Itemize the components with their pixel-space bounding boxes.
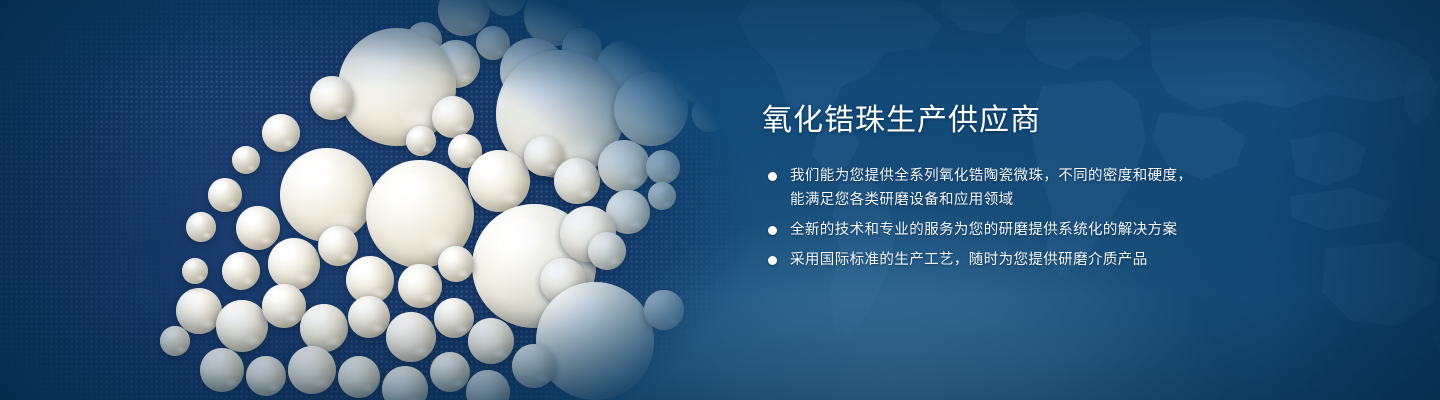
bullet-dot-icon [768,226,777,235]
hero-banner: 氧化锆珠生产供应商 我们能为您提供全系列氧化锆陶瓷微珠，不同的密度和硬度， 能满… [0,0,1440,400]
list-item-line: 采用国际标准的生产工艺，随时为您提供研磨介质产品 [790,248,1382,272]
list-item: 采用国际标准的生产工艺，随时为您提供研磨介质产品 [762,248,1382,272]
feature-list: 我们能为您提供全系列氧化锆陶瓷微珠，不同的密度和硬度， 能满足您各类研磨设备和应… [762,164,1382,272]
zirconia-beads-photo [0,0,760,400]
list-item-line: 全新的技术和专业的服务为您的研磨提供系统化的解决方案 [790,218,1382,242]
bullet-dot-icon [768,172,777,181]
bead-cluster [0,0,760,400]
list-item: 我们能为您提供全系列氧化锆陶瓷微珠，不同的密度和硬度， 能满足您各类研磨设备和应… [762,164,1382,212]
bullet-dot-icon [768,256,777,265]
list-item-line: 我们能为您提供全系列氧化锆陶瓷微珠，不同的密度和硬度， [790,164,1382,188]
list-item: 全新的技术和专业的服务为您的研磨提供系统化的解决方案 [762,218,1382,242]
page-title: 氧化锆珠生产供应商 [762,104,1382,138]
banner-content: 氧化锆珠生产供应商 我们能为您提供全系列氧化锆陶瓷微珠，不同的密度和硬度， 能满… [762,104,1382,272]
list-item-line: 能满足您各类研磨设备和应用领域 [790,188,1382,212]
